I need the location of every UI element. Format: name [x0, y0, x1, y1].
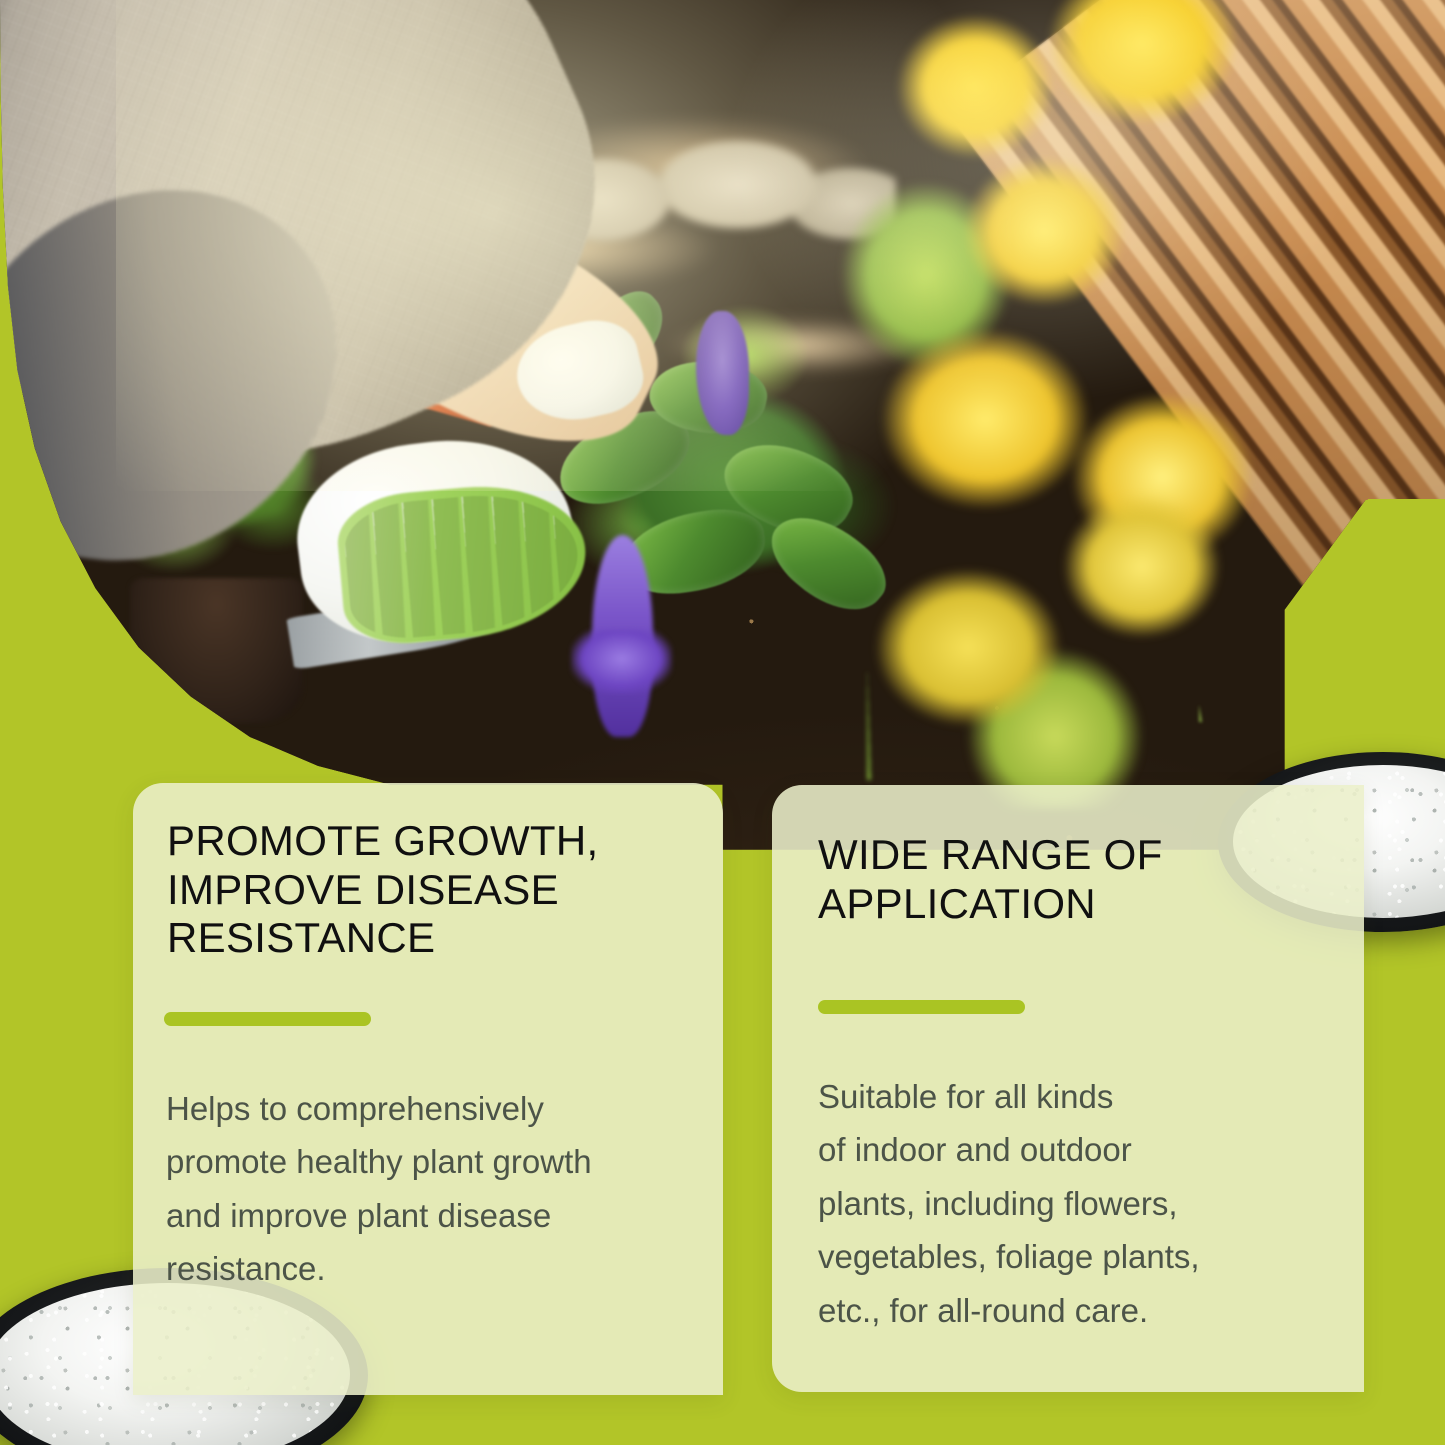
feature-description: Suitable for all kinds of indoor and out…: [818, 1070, 1338, 1337]
feature-card-content: WIDE RANGE OF APPLICATION Suitable for a…: [772, 785, 1364, 1392]
feature-accent-bar: [164, 1012, 371, 1026]
feature-accent-bar: [818, 1000, 1025, 1014]
black-nursery-pot: [130, 578, 303, 723]
sun-flare: [723, 0, 1359, 405]
feature-card-promote-growth: PROMOTE GROWTH, IMPROVE DISEASE RESISTAN…: [133, 783, 723, 1395]
feature-title: WIDE RANGE OF APPLICATION: [818, 831, 1288, 928]
feature-description: Helps to comprehensively promote healthy…: [166, 1082, 696, 1296]
product-infographic: PROMOTE GROWTH, IMPROVE DISEASE RESISTAN…: [0, 0, 1445, 1445]
feature-card-wide-range-of-application: WIDE RANGE OF APPLICATION Suitable for a…: [772, 785, 1364, 1392]
feature-title: PROMOTE GROWTH, IMPROVE DISEASE RESISTAN…: [167, 817, 637, 963]
purple-flower-cluster: [571, 630, 672, 694]
feature-card-content: PROMOTE GROWTH, IMPROVE DISEASE RESISTAN…: [133, 783, 723, 1395]
